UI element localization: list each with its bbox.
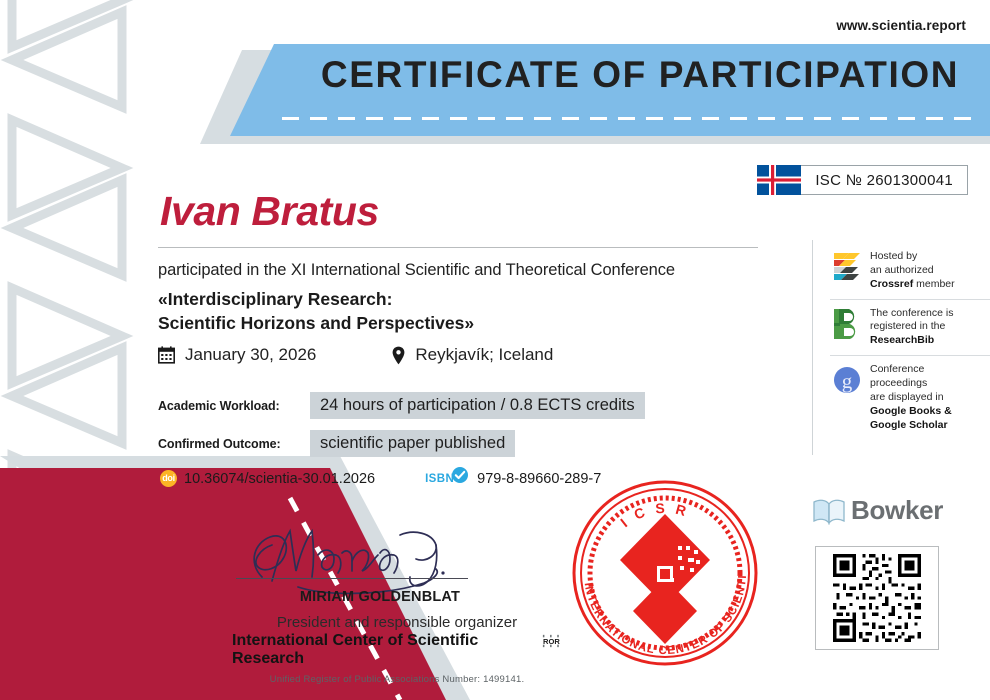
- recipient-name: Ivan Bratus: [160, 188, 379, 235]
- event-date: January 30, 2026: [185, 345, 316, 365]
- signer-role: President and responsible organizer: [232, 614, 562, 631]
- isc-number-badge: ISC № 2601300041: [757, 165, 968, 195]
- svg-text:g: g: [842, 369, 853, 393]
- icsr-seal-icon: I C S R INTERNATIONAL CENTER OF SCIENTIF…: [560, 478, 770, 668]
- calendar-icon: [158, 346, 175, 364]
- event-meta: January 30, 2026 Reykjavík; Iceland: [158, 345, 553, 365]
- name-divider: [158, 247, 758, 248]
- qr-code-container[interactable]: [815, 546, 939, 650]
- bowker-logo: Bowker: [812, 495, 943, 526]
- zigzag-decoration-icon: [0, 0, 150, 492]
- badge-bold: Crossref: [870, 278, 913, 290]
- banner-body: CERTIFICATE OF PARTICIPATION: [230, 44, 990, 136]
- field-row: Academic Workload: 24 hours of participa…: [158, 392, 645, 419]
- svg-text:ROR: ROR: [543, 637, 560, 646]
- registration-number: Unified Register of Public Associations …: [232, 674, 562, 685]
- isbn-label: ISBN: [425, 473, 454, 485]
- badge-line2: registered in the: [870, 320, 945, 332]
- conference-title-line1: «Interdisciplinary Research:: [158, 288, 798, 312]
- conference-title: «Interdisciplinary Research: Scientific …: [158, 288, 798, 335]
- google-scholar-logo-icon: g: [830, 363, 864, 397]
- isc-number-label: ISC № 2601300041: [801, 165, 968, 195]
- signer-organization: International Center of Scientific Resea…: [232, 632, 537, 668]
- badge-google-scholar: g Conference proceedings are displayed i…: [830, 355, 990, 439]
- field-value: scientific paper published: [310, 430, 515, 457]
- badge-line1: Hosted by: [870, 250, 917, 262]
- bowker-name: Bowker: [851, 495, 943, 526]
- badge-bold: Google Books &: [870, 405, 952, 417]
- badge-line3: are displayed in: [870, 391, 944, 403]
- header-banner: CERTIFICATE OF PARTICIPATION: [200, 44, 990, 144]
- iceland-flag-icon: [757, 165, 801, 195]
- bowker-book-icon: [812, 496, 846, 526]
- badge-text: Hosted by an authorized Crossref member: [870, 250, 955, 292]
- detail-fields: Academic Workload: 24 hours of participa…: [158, 392, 645, 468]
- badge-bold: ResearchBib: [870, 334, 934, 346]
- signature-line: [236, 578, 468, 579]
- signature-block: MIRIAM GOLDENBLAT President and responsi…: [232, 515, 562, 685]
- badge-line1: Conference: [870, 363, 924, 375]
- sidebar-divider: [812, 240, 813, 455]
- field-value: 24 hours of participation / 0.8 ECTS cre…: [310, 392, 645, 419]
- doi-value: 10.36074/scientia-30.01.2026: [184, 471, 375, 487]
- partner-badges: Hosted by an authorized Crossref member …: [830, 243, 990, 439]
- badge-crossref: Hosted by an authorized Crossref member: [830, 243, 990, 299]
- identifier-row: doi 10.36074/scientia-30.01.2026 ISBN 97…: [160, 470, 601, 487]
- badge-bold2: Google Scholar: [870, 419, 948, 431]
- badge-researchbib: The conference is registered in the Rese…: [830, 299, 990, 356]
- crossref-logo-icon: [830, 250, 864, 284]
- certificate-canvas: www.scientia.report CERTIFICATE OF PARTI…: [0, 0, 990, 700]
- qr-code-icon[interactable]: [820, 551, 934, 645]
- page-title: CERTIFICATE OF PARTICIPATION: [290, 54, 990, 96]
- ror-logo-icon: ROR: [541, 634, 562, 648]
- event-location: Reykjavík; Iceland: [415, 345, 553, 365]
- badge-line2: proceedings: [870, 377, 927, 389]
- researchbib-logo-icon: [830, 307, 864, 341]
- conference-title-line2: Scientific Horizons and Perspectives»: [158, 312, 798, 336]
- map-pin-icon: [392, 346, 405, 365]
- field-label: Academic Workload:: [158, 399, 310, 413]
- site-url: www.scientia.report: [836, 18, 966, 33]
- banner-dashed-line: [282, 117, 982, 120]
- field-row: Confirmed Outcome: scientific paper publ…: [158, 430, 645, 457]
- verified-check-icon: [451, 466, 469, 484]
- signer-organization-row: International Center of Scientific Resea…: [232, 632, 562, 668]
- badge-line1: The conference is: [870, 307, 953, 319]
- doi-badge-icon: doi: [160, 470, 177, 487]
- badge-line2: an authorized: [870, 264, 934, 276]
- badge-text: The conference is registered in the Rese…: [870, 307, 953, 349]
- badge-tail: member: [913, 278, 954, 290]
- participation-line: participated in the XI International Sci…: [158, 261, 675, 280]
- field-label: Confirmed Outcome:: [158, 437, 310, 451]
- signer-name: MIRIAM GOLDENBLAT: [232, 589, 528, 605]
- handwritten-signature-icon: [238, 515, 488, 600]
- badge-text: Conference proceedings are displayed in …: [870, 363, 952, 432]
